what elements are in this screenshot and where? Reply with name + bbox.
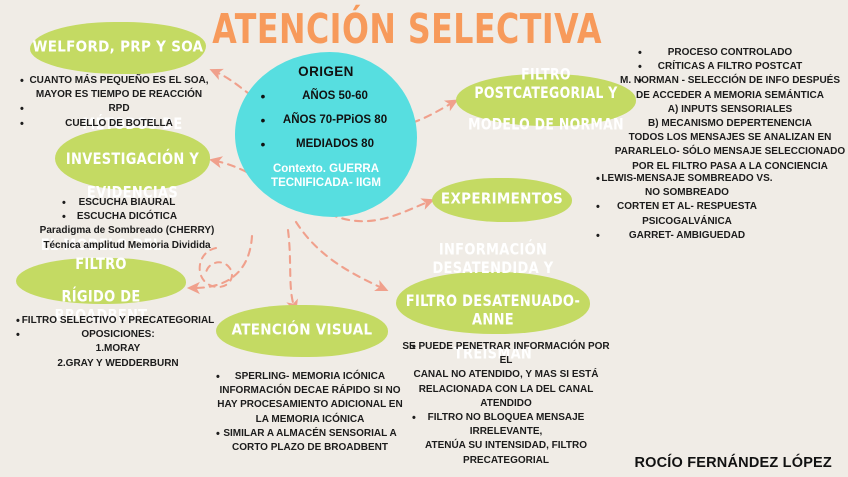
list-item: LA MEMORIA ICÓNICA (204, 413, 416, 427)
node-experimentos[interactable]: EXPERIMENTOS (432, 178, 572, 222)
center-bullet-label: MEDIADOS 80 (280, 138, 406, 150)
list-item: CORTEN ET AL- RESPUESTA (582, 200, 792, 214)
node-welford[interactable]: WELFORD, PRP Y SOA (30, 22, 206, 74)
list-item: SE PUEDE PENETRAR INFORMACIÓN POR EL (398, 340, 614, 368)
center-bullet-label: AÑOS 50-60 (280, 90, 406, 102)
center-bullet-3: • MEDIADOS 80 (246, 137, 406, 151)
list-item: FILTRO NO BLOQUEA MENSAJE IRRELEVANTE, (398, 411, 614, 439)
bullet-dot-icon: • (246, 89, 280, 103)
list-item: B) MECANISMO DEPERTENENCIA (612, 117, 848, 131)
node-filtro-postcategorial-label: FILTRO POSTCATEGORIAL Y MODELO DE NORMAN (462, 67, 630, 133)
node-broadbent-details: FILTRO SELECTIVO Y PRECATEGORIAL OPOSICI… (4, 314, 232, 371)
node-postcat-label-line1: FILTRO POSTCATEGORIAL Y (462, 65, 630, 102)
center-bullet-2: • AÑOS 70-PPiOS 80 (246, 113, 406, 127)
list-item: 2.GRAY Y WEDDERBURN (4, 357, 232, 371)
node-postcat-label-line2: MODELO DE NORMAN (462, 116, 630, 135)
node-filtro-postcategorial-details: PROCESO CONTROLADO CRÍTICAS A FILTRO POS… (612, 46, 848, 174)
list-item: FILTRO SELECTIVO Y PRECATEGORIAL (4, 314, 232, 328)
node-metodos-details: ESCUCHA BIAURAL ESCUCHA DICÓTICA Paradig… (24, 196, 230, 253)
connector-to-treisman (296, 222, 382, 288)
list-item: PROCESO CONTROLADO (612, 46, 848, 60)
node-treisman[interactable]: INFORMACIÓN DESATENDIDA Y FILTRO DESATEN… (396, 272, 590, 334)
node-atencion-visual-label: ATENCIÓN VISUAL (232, 322, 373, 340)
list-item: CUELLO DE BOTELLA (8, 117, 230, 131)
list-item: RPD (8, 102, 230, 116)
center-context: Contexto. GUERRA TECNIFICADA- IIGM (271, 162, 381, 191)
list-item: ATENÚA SU INTENSIDAD, FILTRO (398, 439, 614, 453)
list-item: DE ACCEDER A MEMORIA SEMÁNTICA (612, 89, 848, 103)
node-filtro-postcategorial[interactable]: FILTRO POSTCATEGORIAL Y MODELO DE NORMAN (456, 74, 636, 126)
list-item: CRÍTICAS A FILTRO POSTCAT (612, 60, 848, 74)
node-metodos[interactable]: MÉTODOS DE INVESTIGACIÓN Y EVIDENCIAS (55, 128, 210, 190)
list-item: A) INPUTS SENSORIALES (612, 103, 848, 117)
center-context-line1: Contexto. GUERRA (271, 162, 381, 176)
list-item: ESCUCHA BIAURAL (24, 196, 230, 210)
node-treisman-label-line1: INFORMACIÓN DESATENDIDA Y (402, 241, 584, 279)
node-welford-details: CUANTO MÁS PEQUEÑO ES EL SOA, MAYOR ES T… (8, 74, 230, 131)
center-bullet-label: AÑOS 70-PPiOS 80 (280, 114, 406, 126)
list-item: LEWIS-MENSAJE SOMBREADO VS. (582, 172, 792, 186)
connector-to-visual (288, 230, 294, 306)
node-experimentos-details: LEWIS-MENSAJE SOMBREADO VS. NO SOMBREADO… (582, 172, 792, 243)
node-experimentos-label: EXPERIMENTOS (441, 191, 563, 209)
center-bullet-1: • AÑOS 50-60 (246, 89, 406, 103)
connector-loop-decoration (200, 248, 232, 287)
list-item: 1.MORAY (4, 342, 232, 356)
list-item: SPERLING- MEMORIA ICÓNICA (204, 370, 416, 384)
node-welford-label: WELFORD, PRP Y SOA (33, 39, 204, 57)
center-node[interactable]: ORIGEN • AÑOS 50-60 • AÑOS 70-PPiOS 80 •… (235, 52, 417, 217)
list-item: SIMILAR A ALMACÉN SENSORIAL A (204, 427, 416, 441)
list-item: PARARLELO- SÓLO MENSAJE SELECCIONADO (612, 145, 848, 159)
node-broadbent[interactable]: EL MODELO DEL FILTRO RÍGIDO DE BROADBENT (16, 258, 186, 304)
list-item: ESCUCHA DICÓTICA (24, 210, 230, 224)
list-item: M. NORMAN - SELECCIÓN DE INFO DESPUÉS (612, 74, 848, 88)
node-treisman-label-line2: FILTRO DESATENUADO- ANNE (402, 292, 584, 330)
node-atencion-visual[interactable]: ATENCIÓN VISUAL (216, 305, 388, 357)
list-item: INFORMACIÓN DECAE RÁPIDO SI NO (204, 384, 416, 398)
list-item: OPOSICIONES: (4, 328, 232, 342)
list-item: RELACIONADA CON LA DEL CANAL ATENDIDO (398, 383, 614, 411)
list-item: CUANTO MÁS PEQUEÑO ES EL SOA, (8, 74, 230, 88)
list-item: Técnica amplitud Memoria Dividida (24, 239, 230, 253)
bullet-dot-icon: • (246, 113, 280, 127)
list-item: PRECATEGORIAL (398, 454, 614, 468)
list-item: HAY PROCESAMIENTO ADICIONAL EN (204, 398, 416, 412)
list-item: Paradigma de Sombreado (CHERRY) (24, 224, 230, 238)
list-item: CANAL NO ATENDIDO, Y MAS SI ESTÁ (398, 368, 614, 382)
list-item: MAYOR ES TIEMPO DE REACCIÓN (8, 88, 230, 102)
node-atencion-visual-details: SPERLING- MEMORIA ICÓNICA INFORMACIÓN DE… (204, 370, 416, 455)
list-item: CORTO PLAZO DE BROADBENT (204, 441, 416, 455)
list-item: NO SOMBREADO (582, 186, 792, 200)
page-title: ATENCIÓN SELECTIVA (212, 4, 558, 53)
list-item: GARRET- AMBIGUEDAD (582, 229, 792, 243)
bullet-dot-icon: • (246, 137, 280, 151)
node-treisman-details: SE PUEDE PENETRAR INFORMACIÓN POR EL CAN… (398, 340, 614, 468)
list-item: PSICOGALVÁNICA (582, 215, 792, 229)
center-heading: ORIGEN (298, 64, 354, 79)
mindmap-canvas: ATENCIÓN SELECTIVA ORIGEN • AÑOS 50-60 •… (0, 0, 848, 477)
node-metodos-label-line2: INVESTIGACIÓN Y (66, 149, 199, 168)
center-context-line2: TECNIFICADA- IIGM (271, 176, 381, 190)
list-item: TODOS LOS MENSAJES SE ANALIZAN EN (612, 131, 848, 145)
